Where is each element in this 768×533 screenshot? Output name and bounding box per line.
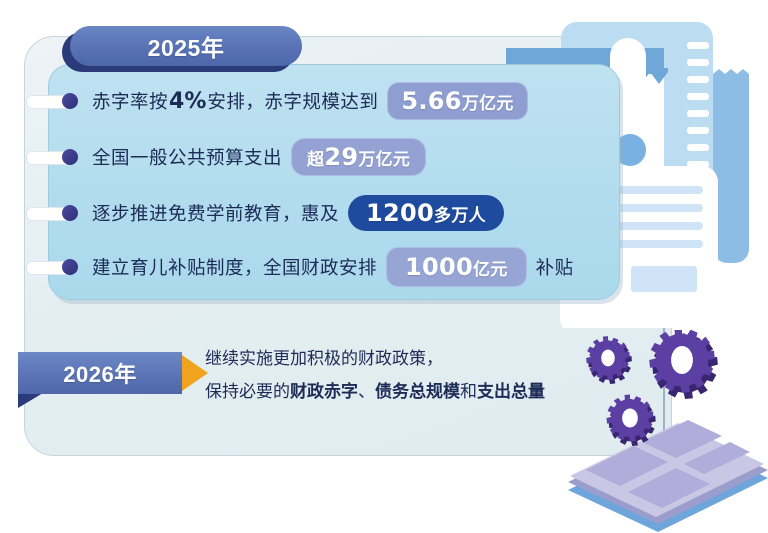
bullet-marker-icon: [26, 259, 82, 275]
badge-2026: 2026年: [18, 352, 198, 394]
value-pill-2-number: 29: [324, 143, 358, 171]
infographic-canvas: 2025年 赤字率按 4% 安排，赤字规模达到 5.66 万亿元: [0, 0, 768, 533]
value-pill-1-number: 5.66: [401, 87, 461, 115]
value-pill-3-unit: 多万人: [434, 201, 486, 226]
bullet-text-4: 建立育儿补贴制度，全国财政安排 1000 亿元 补贴: [92, 247, 574, 287]
bullet-1-tail: 安排，赤字规模达到: [207, 88, 378, 114]
bullet-marker-dot: [62, 259, 78, 275]
footer-line2-pre: 保持必要的: [205, 382, 290, 402]
bullet-3-lead: 逐步推进免费学前教育，惠及: [92, 200, 339, 226]
value-pill-1-unit: 万亿元: [462, 89, 514, 114]
footer-sep-1: 、: [358, 382, 375, 402]
bullet-marker-icon: [26, 93, 82, 109]
bullet-2-lead: 全国一般公共预算支出: [92, 144, 282, 170]
bullet-4-after: 补贴: [536, 254, 574, 280]
footer-sep-2: 和: [460, 382, 477, 402]
value-pill-2-unit: 万亿元: [358, 145, 410, 170]
value-pill-4-number: 1000: [405, 253, 473, 281]
value-pill-subsidy-amount: 1000 亿元: [386, 247, 527, 287]
bullet-marker-dot: [62, 205, 78, 221]
bullet-1-emphasis: 4%: [168, 89, 207, 114]
bullet-marker-dot: [62, 93, 78, 109]
footer-term-deficit: 财政赤字: [290, 382, 358, 402]
value-pill-4-unit: 亿元: [473, 255, 508, 280]
bullet-marker-icon: [26, 149, 82, 165]
value-pill-2-prefix: 超: [307, 145, 324, 170]
gears-illustration: [560, 330, 768, 533]
bullet-rows: 赤字率按 4% 安排，赤字规模达到 5.66 万亿元 全国一般公共预算支出 超 …: [0, 0, 648, 236]
badge-2026-plate: 2026年: [18, 352, 182, 394]
bullet-4-lead: 建立育儿补贴制度，全国财政安排: [92, 254, 377, 280]
value-pill-budget-spending: 超 29 万亿元: [291, 138, 426, 176]
footer-term-total-spending: 支出总量: [477, 382, 545, 402]
bullet-marker-icon: [26, 205, 82, 221]
bullet-1-lead: 赤字率按: [92, 88, 168, 114]
bullet-text-3: 逐步推进免费学前教育，惠及 1200 多万人: [92, 195, 504, 231]
badge-2026-label: 2026年: [63, 357, 136, 389]
bullet-text-2: 全国一般公共预算支出 超 29 万亿元: [92, 138, 426, 176]
value-pill-beneficiaries: 1200 多万人: [348, 195, 504, 231]
footer-term-debt-scale: 债务总规模: [375, 382, 460, 402]
bullet-marker-dot: [62, 149, 78, 165]
value-pill-deficit-scale: 5.66 万亿元: [387, 82, 527, 120]
value-pill-3-number: 1200: [366, 199, 434, 227]
bullet-text-1: 赤字率按 4% 安排，赤字规模达到 5.66 万亿元: [92, 82, 528, 120]
